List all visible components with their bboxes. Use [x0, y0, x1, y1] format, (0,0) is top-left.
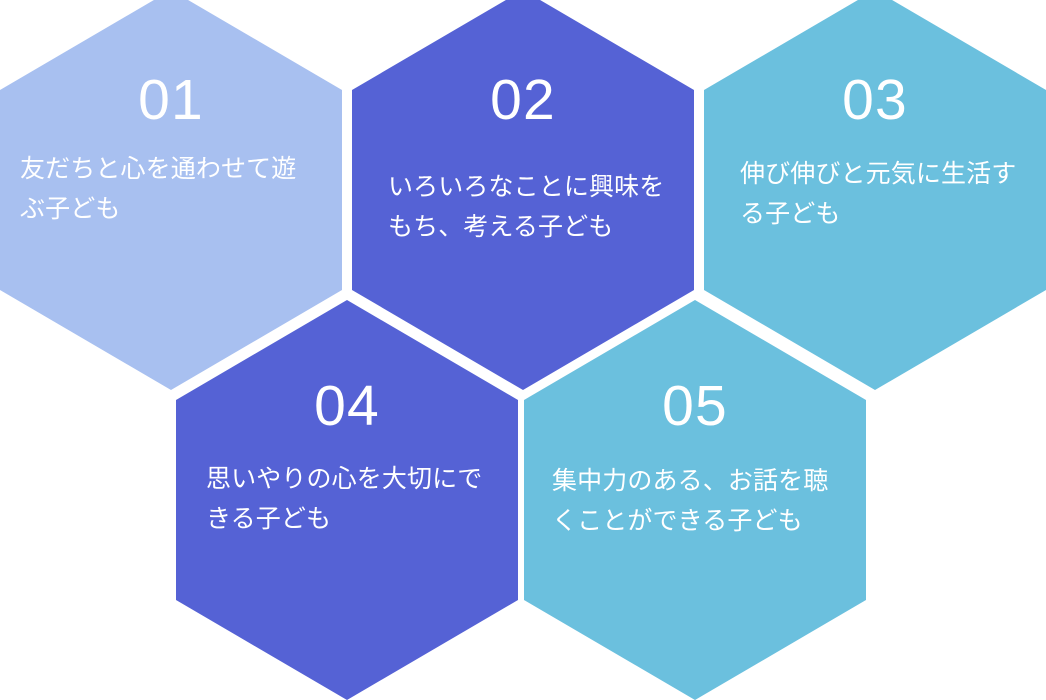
hexagon-cell-02-text: いろいろなことに興味をもち、考える子ども [388, 168, 678, 247]
hexagon-cell-03-text: 伸び伸びと元気に生活する子ども [740, 155, 1028, 234]
hexagon-cell-01[interactable]: 01 友だちと心を通わせて遊ぶ子ども [0, 0, 342, 390]
hexagon-cell-03-content: 03 伸び伸びと元気に生活する子ども [704, 0, 1046, 390]
hexagon-cell-01-number: 01 [0, 72, 342, 129]
hexagon-cell-01-text: 友だちと心を通わせて遊ぶ子ども [20, 150, 316, 229]
hexagon-cell-03[interactable]: 03 伸び伸びと元気に生活する子ども [704, 0, 1046, 390]
hexagon-cell-05-text: 集中力のある、お話を聴くことができる子ども [552, 462, 844, 541]
hexagon-cell-03-number: 03 [704, 72, 1046, 129]
hexagon-cell-01-content: 01 友だちと心を通わせて遊ぶ子ども [0, 0, 342, 390]
hexagon-cell-05-content: 05 集中力のある、お話を聴くことができる子ども [524, 300, 866, 700]
hexagon-cell-02-number: 02 [352, 72, 694, 129]
hexagon-diagram: 01 友だちと心を通わせて遊ぶ子ども 02 いろいろなことに興味をもち、考える子… [0, 0, 1046, 700]
hexagon-cell-05[interactable]: 05 集中力のある、お話を聴くことができる子ども [524, 300, 866, 700]
hexagon-cell-05-number: 05 [524, 378, 866, 435]
hexagon-cell-04-text: 思いやりの心を大切にできる子ども [206, 460, 496, 539]
hexagon-cell-04-content: 04 思いやりの心を大切にできる子ども [176, 300, 518, 700]
hexagon-cell-04[interactable]: 04 思いやりの心を大切にできる子ども [176, 300, 518, 700]
hexagon-cell-04-number: 04 [176, 378, 518, 435]
